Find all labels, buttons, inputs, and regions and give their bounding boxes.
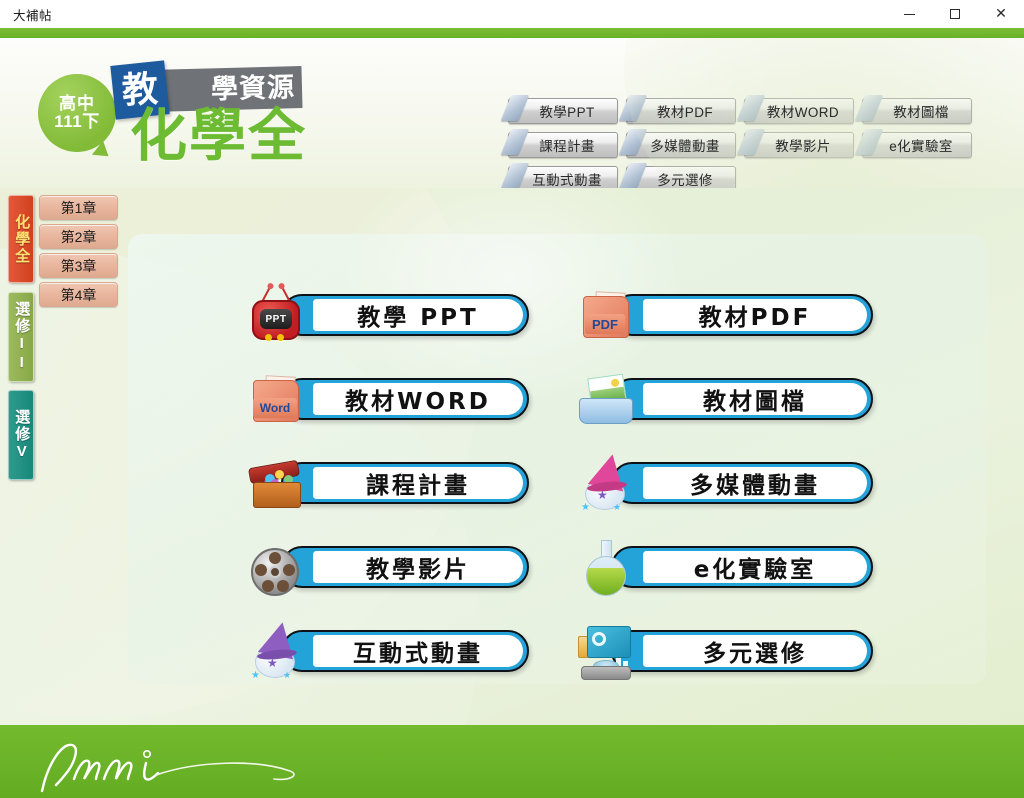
menu-item-teaching-ppt[interactable]: PPT 教學 PPT bbox=[245, 284, 529, 346]
quick-link-label: 教材圖檔 bbox=[885, 101, 949, 121]
sidebar-tab-label: 選修V bbox=[13, 409, 30, 462]
quick-link-diverse-elective[interactable]: 多元選修 bbox=[626, 166, 736, 188]
header-banner: 高中 111下 學資源 教 化學全 教學PPT 教材PDF 教材WORD bbox=[0, 38, 1024, 188]
menu-item-label: 教材PDF bbox=[643, 299, 867, 331]
quick-link-label: 多元選修 bbox=[649, 169, 713, 188]
close-button[interactable]: ✕ bbox=[978, 0, 1024, 28]
menu-item-material-word[interactable]: Word 教材WORD bbox=[245, 368, 529, 430]
grade-badge: 高中 111下 bbox=[38, 74, 116, 152]
chapter-button-1[interactable]: 第1章 bbox=[39, 195, 118, 220]
minimize-button[interactable] bbox=[886, 0, 932, 28]
wizard-hat-purple-icon: ★★★ bbox=[245, 620, 307, 682]
chapter-button-4[interactable]: 第4章 bbox=[39, 282, 118, 307]
menu-item-course-plan[interactable]: 課程計畫 bbox=[245, 452, 529, 514]
menu-item-teaching-video[interactable]: 教學影片 bbox=[245, 536, 529, 598]
slash-icon bbox=[619, 163, 648, 188]
main-menu: PPT 教學 PPT Word 教材WORD bbox=[0, 188, 1024, 725]
menu-item-label: 多媒體動畫 bbox=[643, 467, 867, 499]
nan-i-logo bbox=[28, 737, 328, 793]
menu-item-label: 互動式動畫 bbox=[313, 635, 523, 667]
wizard-hat-pink-icon: ★★★ bbox=[575, 452, 637, 514]
slash-icon bbox=[855, 95, 884, 121]
quick-link-material-word[interactable]: 教材WORD bbox=[744, 98, 854, 124]
maximize-button[interactable] bbox=[932, 0, 978, 28]
quick-link-course-plan[interactable]: 課程計畫 bbox=[508, 132, 618, 158]
projector-icon bbox=[575, 620, 637, 682]
slash-icon bbox=[619, 95, 648, 121]
chapter-button-3[interactable]: 第3章 bbox=[39, 253, 118, 278]
menu-item-label: 教學 PPT bbox=[313, 299, 523, 331]
menu-pill[interactable]: 課程計畫 bbox=[281, 462, 529, 504]
minimize-icon bbox=[904, 14, 915, 15]
pdf-folder-icon: PDF bbox=[575, 284, 637, 346]
sidebar-tab-elective-2[interactable]: 選修II bbox=[8, 292, 34, 382]
film-reel-icon bbox=[245, 536, 307, 598]
quick-link-label: 教學影片 bbox=[767, 135, 831, 155]
quick-link-multimedia-animation[interactable]: 多媒體動畫 bbox=[626, 132, 736, 158]
menu-item-diverse-elective[interactable]: 多元選修 bbox=[575, 620, 873, 682]
menu-item-label: 教學影片 bbox=[313, 551, 523, 583]
menu-item-label: 課程計畫 bbox=[313, 467, 523, 499]
menu-item-label: e化實驗室 bbox=[643, 551, 867, 583]
title-bar: 大補帖 ✕ bbox=[0, 0, 1024, 28]
menu-pill[interactable]: e化實驗室 bbox=[611, 546, 873, 588]
grade-badge-line1: 高中 bbox=[59, 95, 95, 113]
top-accent-bar bbox=[0, 28, 1024, 38]
quick-link-label: e化實驗室 bbox=[881, 135, 953, 155]
slash-icon bbox=[737, 129, 766, 155]
content-area: 化學全 選修II 選修V 第1章 第2章 第3章 第4章 bbox=[0, 188, 1024, 725]
flask-icon bbox=[575, 536, 637, 598]
menu-item-material-images[interactable]: 教材圖檔 bbox=[575, 368, 873, 430]
ppt-tv-icon: PPT bbox=[245, 284, 307, 346]
footer: 建議使用office 2007 以上版本 服務中心 回首頁 離 開 bbox=[0, 725, 1024, 798]
menu-pill[interactable]: 多元選修 bbox=[611, 630, 873, 672]
brand-logo: 高中 111下 學資源 教 化學全 bbox=[22, 46, 322, 186]
window-controls: ✕ bbox=[886, 0, 1024, 28]
quick-link-teaching-ppt[interactable]: 教學PPT bbox=[508, 98, 618, 124]
menu-pill[interactable]: 教材WORD bbox=[281, 378, 529, 420]
quick-link-teaching-video[interactable]: 教學影片 bbox=[744, 132, 854, 158]
sidebar-tab-label: 化學全 bbox=[13, 214, 30, 265]
image-tray-icon bbox=[575, 368, 637, 430]
quick-link-label: 教學PPT bbox=[531, 101, 594, 121]
quick-links-group: 教學PPT 教材PDF 教材WORD 教材圖檔 課程計畫 多媒體動畫 bbox=[508, 98, 1008, 188]
menu-item-label: 多元選修 bbox=[643, 635, 867, 667]
menu-pill[interactable]: 教材圖檔 bbox=[611, 378, 873, 420]
quick-link-interactive-animation[interactable]: 互動式動畫 bbox=[508, 166, 618, 188]
window-title: 大補帖 bbox=[13, 5, 52, 24]
menu-item-multimedia-animation[interactable]: ★★★ 多媒體動畫 bbox=[575, 452, 873, 514]
word-folder-icon: Word bbox=[245, 368, 307, 430]
menu-item-material-pdf[interactable]: PDF 教材PDF bbox=[575, 284, 873, 346]
quick-link-label: 互動式動畫 bbox=[524, 169, 602, 188]
menu-pill[interactable]: 教學 PPT bbox=[281, 294, 529, 336]
quick-link-e-lab[interactable]: e化實驗室 bbox=[862, 132, 972, 158]
slash-icon bbox=[855, 129, 884, 155]
sidebar-tab-label: 選修II bbox=[13, 301, 30, 373]
resource-bar-text: 學資源 bbox=[211, 74, 296, 103]
slash-icon bbox=[501, 129, 530, 155]
close-icon: ✕ bbox=[995, 7, 1007, 21]
treasure-box-icon bbox=[245, 452, 307, 514]
quick-link-material-images[interactable]: 教材圖檔 bbox=[862, 98, 972, 124]
chapter-list: 第1章 第2章 第3章 第4章 bbox=[39, 195, 118, 311]
menu-pill[interactable]: 多媒體動畫 bbox=[611, 462, 873, 504]
quick-link-label: 課程計畫 bbox=[531, 135, 595, 155]
menu-item-interactive-animation[interactable]: ★★★ 互動式動畫 bbox=[245, 620, 529, 682]
grade-badge-line2: 111下 bbox=[54, 113, 100, 131]
sidebar-tab-chemistry-full[interactable]: 化學全 bbox=[8, 195, 34, 283]
menu-item-label: 教材圖檔 bbox=[643, 383, 867, 415]
sidebar-tab-elective-5[interactable]: 選修V bbox=[8, 390, 34, 480]
quick-link-label: 多媒體動畫 bbox=[642, 135, 720, 155]
subject-title: 化學全 bbox=[130, 108, 307, 165]
menu-pill[interactable]: 互動式動畫 bbox=[281, 630, 529, 672]
menu-pill[interactable]: 教材PDF bbox=[611, 294, 873, 336]
menu-item-e-lab[interactable]: e化實驗室 bbox=[575, 536, 873, 598]
chapter-button-2[interactable]: 第2章 bbox=[39, 224, 118, 249]
application-window: 大補帖 ✕ 高中 111下 學資源 教 化學 bbox=[0, 0, 1024, 798]
maximize-icon bbox=[950, 9, 960, 19]
quick-link-label: 教材PDF bbox=[649, 101, 713, 121]
quick-link-material-pdf[interactable]: 教材PDF bbox=[626, 98, 736, 124]
menu-pill[interactable]: 教學影片 bbox=[281, 546, 529, 588]
slash-icon bbox=[501, 95, 530, 121]
sidebar: 化學全 選修II 選修V 第1章 第2章 第3章 第4章 bbox=[0, 188, 122, 725]
quick-link-label: 教材WORD bbox=[759, 101, 839, 121]
menu-item-label: 教材WORD bbox=[313, 383, 523, 415]
